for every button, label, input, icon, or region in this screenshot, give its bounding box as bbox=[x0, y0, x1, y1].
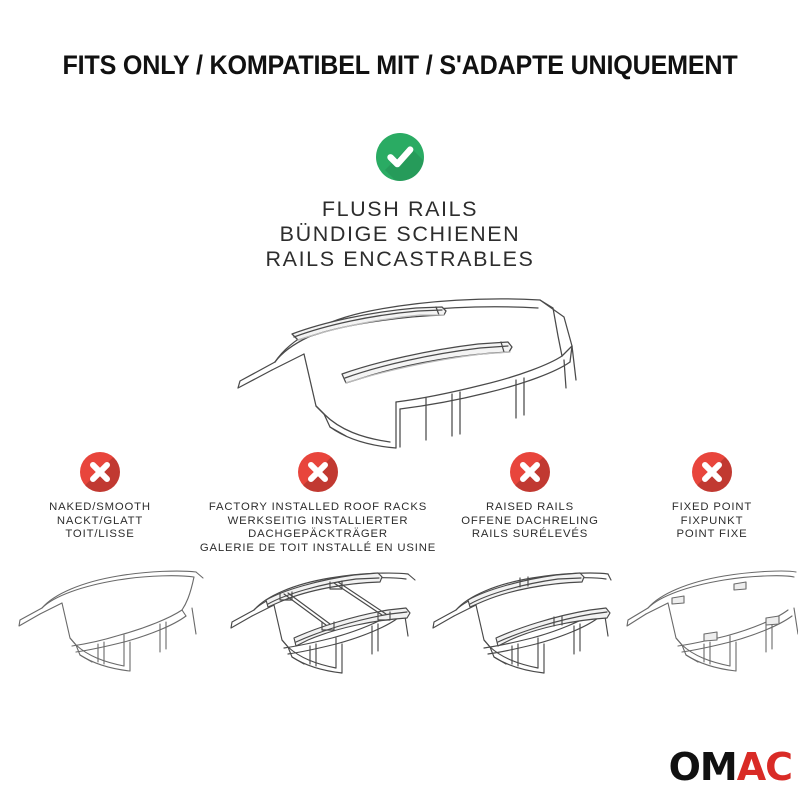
label-line-de: OFFENE DACHRELING bbox=[461, 515, 598, 529]
compatible-label-en: FLUSH RAILS bbox=[266, 197, 535, 222]
compatible-labels: FLUSH RAILS BÜNDIGE SCHIENEN RAILS ENCAS… bbox=[266, 197, 535, 272]
car-roof-fixed-point-illustration bbox=[622, 556, 798, 691]
x-circle-icon bbox=[80, 452, 120, 492]
x-circle-icon bbox=[298, 452, 338, 492]
incompatible-illustrations bbox=[0, 548, 800, 708]
incompatible-labels: NAKED/SMOOTH NACKT/GLATT TOIT/LISSE bbox=[49, 501, 151, 542]
label-line-en: FIXED POINT bbox=[672, 501, 752, 515]
compatible-label-de: BÜNDIGE SCHIENEN bbox=[266, 222, 535, 247]
label-line-de: NACKT/GLATT bbox=[49, 515, 151, 529]
incompatible-labels: FIXED POINT FIXPUNKT POINT FIXE bbox=[672, 501, 752, 542]
x-mark-glyph bbox=[298, 452, 338, 492]
x-mark-glyph bbox=[692, 452, 732, 492]
car-roof-flush-rails-illustration bbox=[220, 284, 580, 454]
car-roof-naked-smooth-illustration bbox=[14, 556, 204, 691]
incompatible-item-factory-racks: FACTORY INSTALLED ROOF RACKS WERKSEITIG … bbox=[200, 452, 436, 555]
incompatible-item-naked-smooth: NAKED/SMOOTH NACKT/GLATT TOIT/LISSE bbox=[0, 452, 200, 542]
compatible-section: FLUSH RAILS BÜNDIGE SCHIENEN RAILS ENCAS… bbox=[0, 133, 800, 454]
incompatible-labels: RAISED RAILS OFFENE DACHRELING RAILS SUR… bbox=[461, 501, 598, 542]
label-line-en: NAKED/SMOOTH bbox=[49, 501, 151, 515]
compatible-label-fr: RAILS ENCASTRABLES bbox=[266, 247, 535, 272]
x-circle-icon bbox=[510, 452, 550, 492]
car-roof-factory-racks-illustration bbox=[222, 552, 418, 691]
logo-text-ac: AC bbox=[737, 745, 792, 789]
check-circle-icon bbox=[376, 133, 424, 181]
car-roof-raised-rails-illustration bbox=[428, 554, 612, 691]
incompatible-item-raised-rails: RAISED RAILS OFFENE DACHRELING RAILS SUR… bbox=[436, 452, 624, 542]
incompatible-section: NAKED/SMOOTH NACKT/GLATT TOIT/LISSE FACT… bbox=[0, 452, 800, 555]
label-line-de-2: DACHGEPÄCKTRÄGER bbox=[200, 528, 436, 542]
label-line-en: RAISED RAILS bbox=[461, 501, 598, 515]
incompatible-item-fixed-point: FIXED POINT FIXPUNKT POINT FIXE bbox=[624, 452, 800, 542]
label-line-fr: TOIT/LISSE bbox=[49, 528, 151, 542]
label-line-en: FACTORY INSTALLED ROOF RACKS bbox=[200, 501, 436, 515]
page-title: FITS ONLY / KOMPATIBEL MIT / S'ADAPTE UN… bbox=[28, 50, 772, 81]
omac-logo: OMAC bbox=[669, 748, 792, 786]
label-line-de-1: WERKSEITIG INSTALLIERTER bbox=[200, 515, 436, 529]
check-mark-glyph bbox=[376, 133, 424, 181]
logo-text-om: OM bbox=[669, 745, 737, 789]
label-line-fr: RAILS SURÉLEVÉS bbox=[461, 528, 598, 542]
label-line-fr: POINT FIXE bbox=[672, 528, 752, 542]
x-circle-icon bbox=[692, 452, 732, 492]
label-line-de: FIXPUNKT bbox=[672, 515, 752, 529]
x-mark-glyph bbox=[80, 452, 120, 492]
x-mark-glyph bbox=[510, 452, 550, 492]
compatibility-chart-page: FITS ONLY / KOMPATIBEL MIT / S'ADAPTE UN… bbox=[0, 0, 800, 800]
